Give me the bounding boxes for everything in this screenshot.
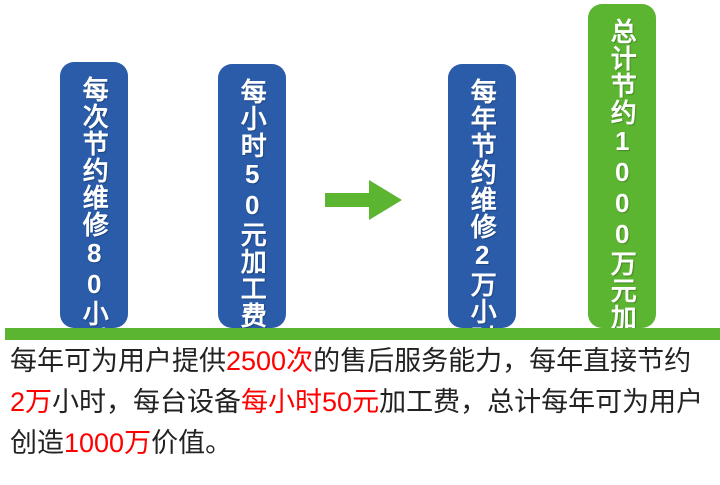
caption-line2-highlight-a: 2万 <box>10 387 52 417</box>
flow-node-3-label: 每年节约维修2万小时 <box>469 78 496 328</box>
arrow-right-icon <box>325 178 403 222</box>
flow-node-4-label: 总计节约1000万元加工费 <box>609 18 636 328</box>
caption-line-3: 创造1000万价值。 <box>10 423 714 464</box>
caption-line3-part-c: 价值。 <box>151 428 232 458</box>
flow-node-2[interactable]: 每小时50元加工费 <box>218 64 286 328</box>
flow-node-1[interactable]: 每次节约维修80小时 <box>60 62 128 328</box>
flow-node-1-label: 每次节约维修80小时 <box>81 76 108 328</box>
process-flow-diagram: 每次节约维修80小时 每小时50元加工费 每年节约维修2万小时 总计节约1000… <box>0 0 720 340</box>
caption-line3-part-a: 创造 <box>10 428 64 458</box>
caption-line-2: 2万小时，每台设备每小时50元加工费，总计每年可为用户 <box>10 382 714 423</box>
caption-line1-part-c: 的售后服务能力，每年直接节约 <box>313 346 691 376</box>
caption-text: 每年可为用户提供2500次的售后服务能力，每年直接节约 2万小时，每台设备每小时… <box>10 341 714 481</box>
caption-line-1: 每年可为用户提供2500次的售后服务能力，每年直接节约 <box>10 341 714 382</box>
caption-line2-highlight-c: 每小时50元 <box>241 387 379 417</box>
caption-line2-part-d: 加工费，总计每年可为用户 <box>379 387 703 417</box>
caption-line1-highlight: 2500次 <box>226 346 313 376</box>
caption-line2-part-b: 小时，每台设备 <box>52 387 241 417</box>
flow-node-3[interactable]: 每年节约维修2万小时 <box>448 64 516 328</box>
flow-node-4-total[interactable]: 总计节约1000万元加工费 <box>588 4 656 328</box>
caption-line3-highlight: 1000万 <box>64 428 151 458</box>
flow-node-2-label: 每小时50元加工费 <box>239 78 266 328</box>
caption-line1-part-a: 每年可为用户提供 <box>10 346 226 376</box>
green-baseline-bar <box>5 328 720 340</box>
